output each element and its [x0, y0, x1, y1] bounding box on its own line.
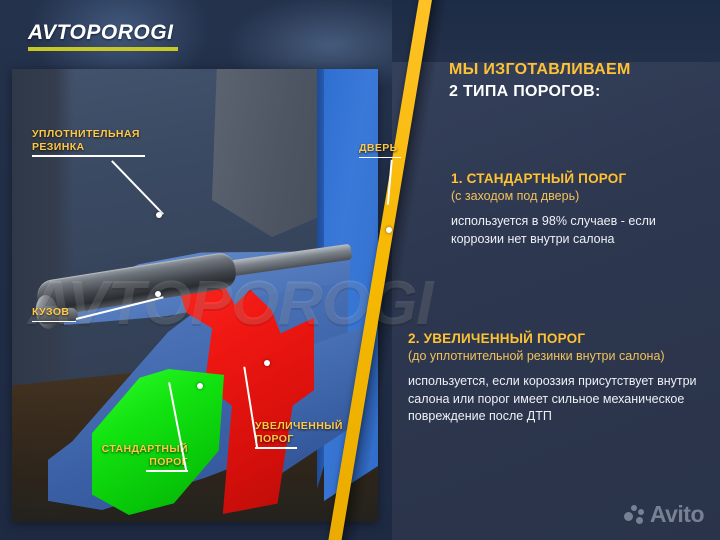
avito-wordmark: Avito — [650, 501, 704, 528]
avito-watermark: Avito — [624, 501, 704, 528]
callout-rubber-seal-label: УПЛОТНИТЕЛЬНАЯ РЕЗИНКА — [32, 128, 145, 153]
section-1-heading: 1. СТАНДАРТНЫЙ ПОРОГ — [451, 170, 707, 187]
callout-rubber-seal: УПЛОТНИТЕЛЬНАЯ РЕЗИНКА — [32, 128, 145, 157]
door-jamb-grey — [212, 69, 332, 237]
leader-dot-rubber-seal — [156, 212, 162, 218]
headline-line-2: 2 ТИПА ПОРОГОВ: — [449, 82, 707, 102]
callout-car-body: КУЗОВ — [32, 306, 76, 322]
brand-logo-underline — [28, 47, 178, 51]
callout-door-rule — [359, 157, 401, 159]
section-standard-sill: 1. СТАНДАРТНЫЙ ПОРОГ (с заходом под двер… — [451, 170, 707, 248]
leader-dot-extended-sill — [264, 360, 270, 366]
section-2-heading: 2. УВЕЛИЧЕННЫЙ ПОРОГ — [408, 330, 698, 347]
brand-logo: AVTOPOROGI — [28, 22, 178, 51]
headline-block: МЫ ИЗГОТАВЛИВАЕМ 2 ТИПА ПОРОГОВ: — [449, 60, 707, 102]
section-2-body: используется, если короззия присутствует… — [408, 373, 698, 426]
brand-logo-text: AVTOPOROGI — [28, 22, 178, 43]
callout-door: ДВЕРЬ — [359, 142, 401, 158]
callout-extended-sill-label: УВЕЛИЧЕННЫЙ ПОРОГ — [255, 420, 343, 445]
section-extended-sill: 2. УВЕЛИЧЕННЫЙ ПОРОГ (до уплотнительной … — [408, 330, 698, 426]
callout-rubber-seal-rule — [32, 155, 145, 157]
callout-door-label: ДВЕРЬ — [359, 142, 401, 155]
avito-logo-icon — [624, 505, 646, 525]
callout-extended-sill: УВЕЛИЧЕННЫЙ ПОРОГ — [255, 420, 343, 449]
leader-dot-door — [386, 227, 392, 233]
callout-extended-sill-rule — [255, 447, 297, 449]
callout-standard-sill-label: СТАНДАРТНЫЙ ПОРОГ — [92, 443, 188, 468]
callout-standard-sill: СТАНДАРТНЫЙ ПОРОГ — [92, 443, 188, 472]
leader-dot-car-body — [155, 291, 161, 297]
advertisement-image: AVTOPOROGI AVTOPOROGI УПЛОТНИТЕЛЬНАЯ РЕЗ… — [0, 0, 720, 540]
callout-standard-sill-rule — [146, 470, 188, 472]
callout-car-body-label: КУЗОВ — [32, 306, 76, 319]
headline-line-1: МЫ ИЗГОТАВЛИВАЕМ — [449, 60, 707, 80]
leader-dot-standard-sill — [197, 383, 203, 389]
callout-car-body-rule — [32, 321, 76, 323]
section-1-body: используется в 98% случаев - если корроз… — [451, 213, 707, 248]
section-2-subheading: (до уплотнительной резинки внутри салона… — [408, 348, 698, 364]
section-1-subheading: (с заходом под дверь) — [451, 188, 707, 204]
